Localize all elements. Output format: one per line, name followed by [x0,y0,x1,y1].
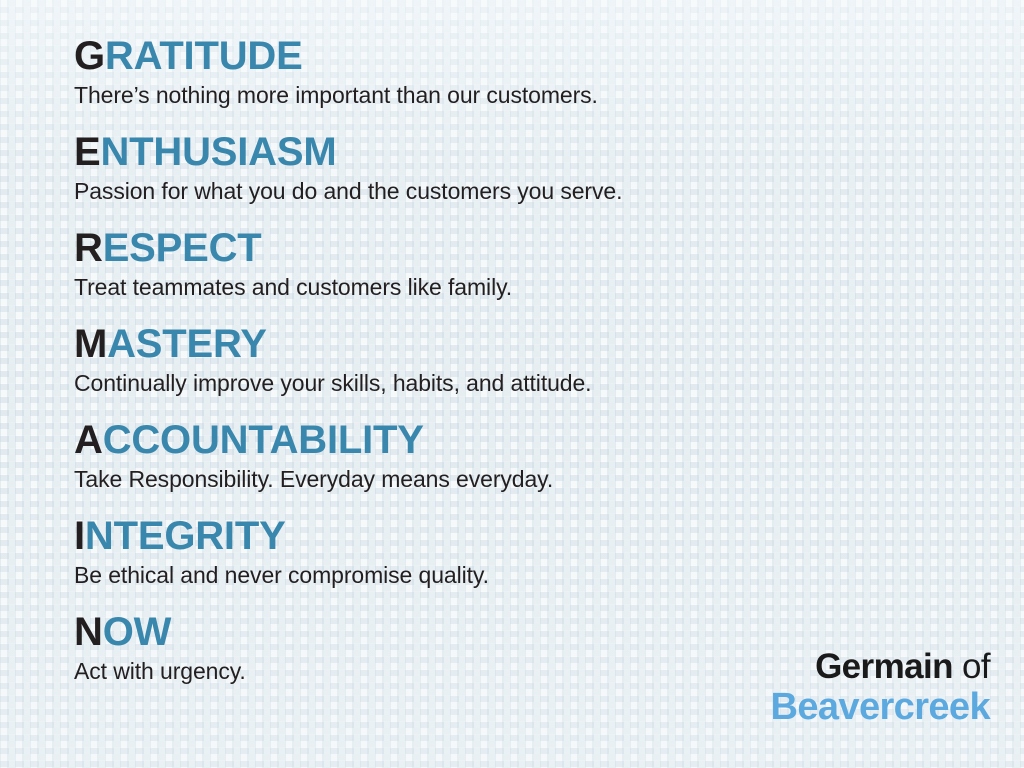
value-title-rest: NTEGRITY [85,514,286,558]
value-item-integrity: INTEGRITY Be ethical and never compromis… [74,514,974,589]
value-item-respect: RESPECT Treat teammates and customers li… [74,226,974,301]
value-title-integrity: INTEGRITY [74,514,974,558]
value-description-mastery: Continually improve your skills, habits,… [74,369,974,397]
value-title-rest: OW [103,610,171,654]
value-title-rest: CCOUNTABILITY [103,418,424,462]
values-poster: GRATITUDE There’s nothing more important… [0,0,1024,768]
value-lead-letter: A [74,418,103,462]
value-title-rest: ESPECT [103,226,262,270]
logo-line-primary: Germain of [771,648,991,686]
value-lead-letter: N [74,610,103,654]
value-title-rest: RATITUDE [105,34,303,78]
value-lead-letter: G [74,34,105,78]
logo-location-name: Beavercreek [771,686,991,728]
value-lead-letter: I [74,514,85,558]
value-title-mastery: MASTERY [74,322,974,366]
value-title-enthusiasm: ENTHUSIASM [74,130,974,174]
value-item-enthusiasm: ENTHUSIASM Passion for what you do and t… [74,130,974,205]
value-lead-letter: R [74,226,103,270]
value-title-accountability: ACCOUNTABILITY [74,418,974,462]
value-lead-letter: E [74,130,100,174]
value-item-mastery: MASTERY Continually improve your skills,… [74,322,974,397]
value-title-respect: RESPECT [74,226,974,270]
dealership-logo: Germain of Beavercreek [771,648,991,728]
value-description-respect: Treat teammates and customers like famil… [74,273,974,301]
logo-connector: of [953,647,990,686]
value-title-rest: NTHUSIASM [100,130,336,174]
value-description-integrity: Be ethical and never compromise quality. [74,561,974,589]
logo-brand-name: Germain [815,647,953,686]
logo-connector-text: of [962,647,990,686]
value-description-enthusiasm: Passion for what you do and the customer… [74,177,974,205]
value-description-gratitude: There’s nothing more important than our … [74,81,974,109]
value-item-accountability: ACCOUNTABILITY Take Responsibility. Ever… [74,418,974,493]
value-description-accountability: Take Responsibility. Everyday means ever… [74,465,974,493]
value-title-rest: ASTERY [107,322,267,366]
value-title-gratitude: GRATITUDE [74,34,974,78]
value-lead-letter: M [74,322,107,366]
core-values-list: GRATITUDE There’s nothing more important… [74,34,974,685]
value-item-gratitude: GRATITUDE There’s nothing more important… [74,34,974,109]
